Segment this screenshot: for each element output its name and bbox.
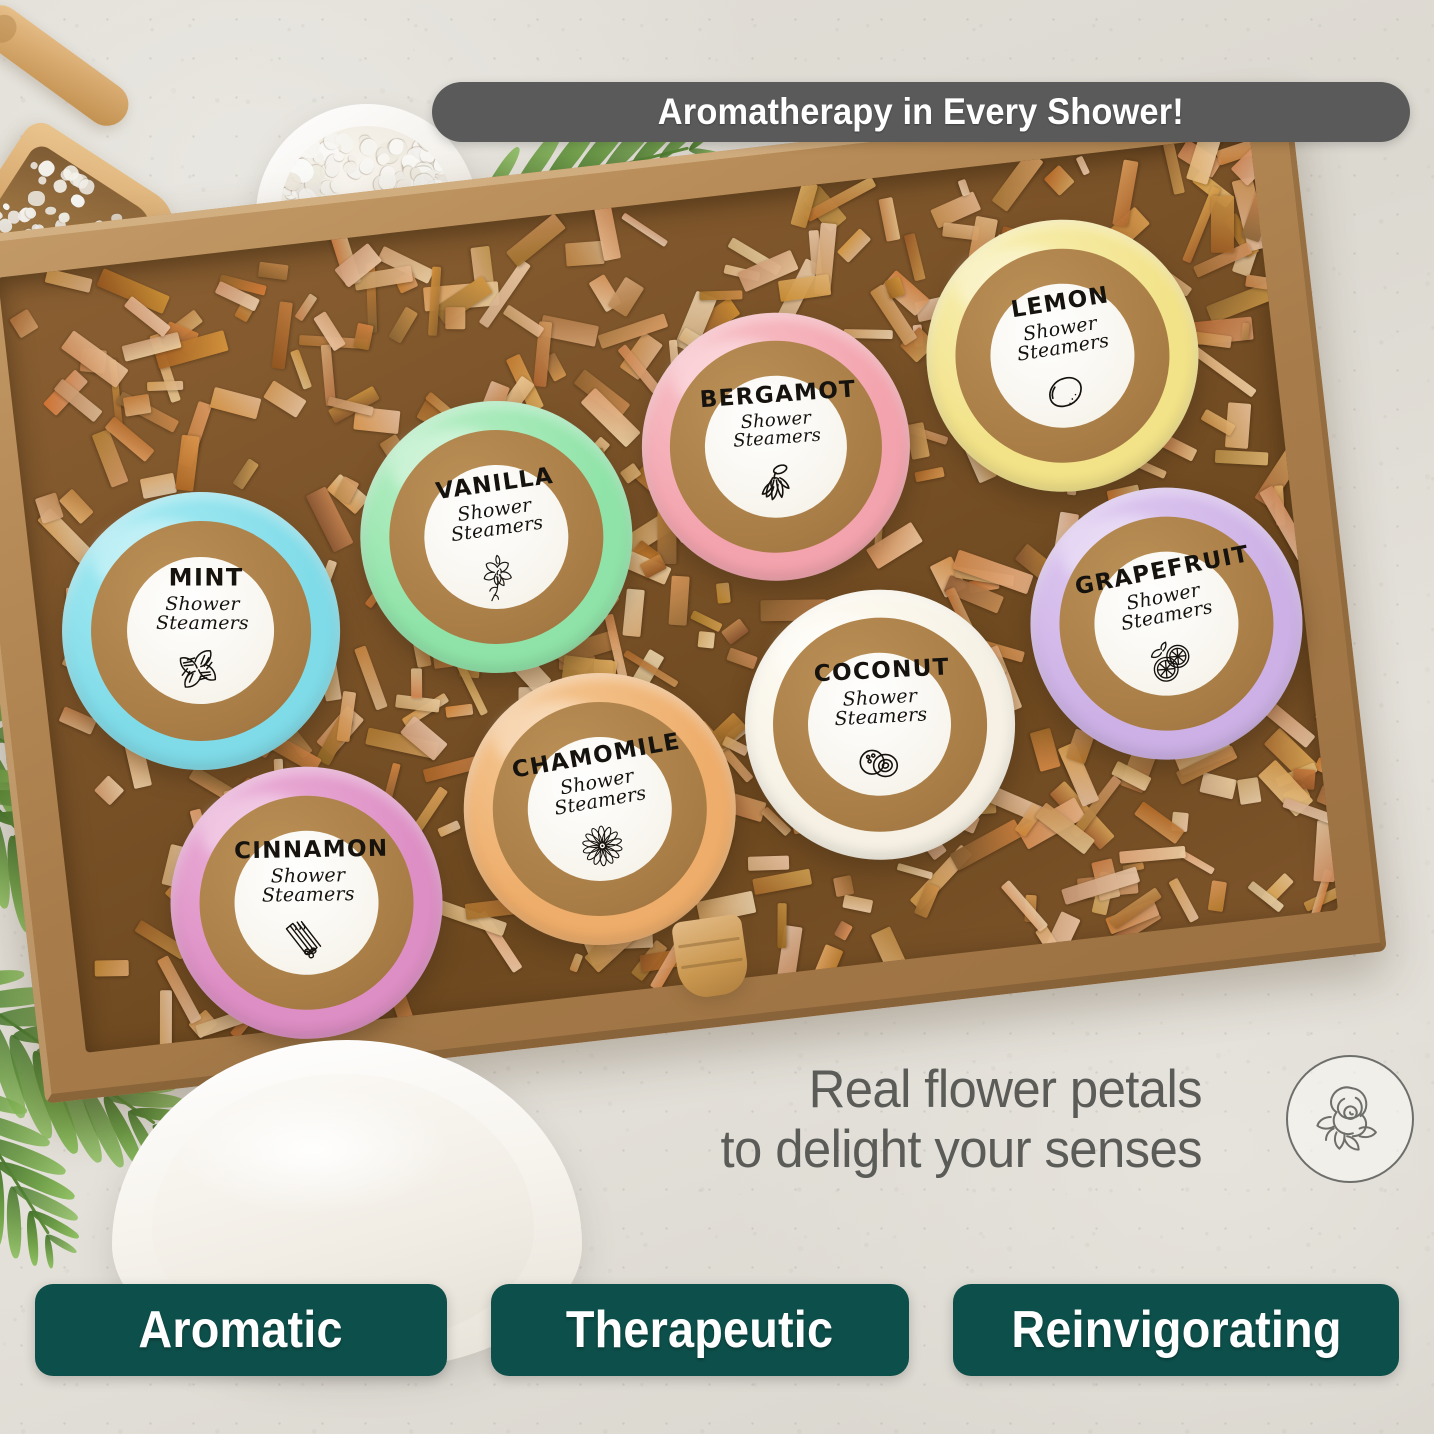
steamer-subtitle: Shower Steamers: [129, 595, 276, 633]
steamer-subtitle: Shower Steamers: [704, 407, 848, 453]
feature-badges: Aromatic Therapeutic Reinvigorating: [0, 1284, 1434, 1376]
paper-shred: [914, 467, 945, 483]
paper-shred: [147, 380, 184, 391]
badge-aromatic[interactable]: Aromatic: [35, 1284, 447, 1376]
steamer-subtitle: Shower Steamers: [987, 309, 1135, 369]
paper-shred: [727, 648, 758, 669]
header-banner-text: Aromatherapy in Every Shower!: [658, 91, 1184, 133]
paper-shred: [1210, 196, 1233, 254]
badge-therapeutic[interactable]: Therapeutic: [491, 1284, 909, 1376]
paper-shred: [753, 869, 813, 896]
paper-shred: [353, 322, 373, 350]
paper-shred: [1199, 772, 1236, 799]
paper-shred: [565, 241, 605, 267]
paper-shred: [904, 233, 926, 281]
paper-shred: [506, 213, 567, 267]
product-scene: MINTShower Steamers VANILLAShower Steame…: [0, 0, 1434, 1434]
paper-shred: [716, 582, 731, 603]
tagline-line-2: to delight your senses: [664, 1120, 1202, 1180]
paper-shred: [699, 290, 743, 300]
tagline-line-1: Real flower petals: [664, 1060, 1202, 1120]
paper-shred: [778, 273, 832, 301]
paper-shred: [389, 307, 419, 344]
lemon-icon: [1036, 365, 1093, 422]
paper-shred: [94, 775, 124, 805]
paper-shred: [777, 903, 786, 948]
steamer-name: COCONUT: [814, 657, 951, 687]
paper-shred: [833, 875, 854, 897]
paper-shred: [1208, 880, 1228, 912]
steamer-subtitle: Shower Steamers: [236, 866, 381, 907]
paper-shred: [1029, 728, 1060, 772]
salt-grain: [45, 206, 57, 215]
daisy-flower-icon: [574, 817, 632, 875]
salt-grain: [8, 211, 20, 224]
rose-icon: [1302, 1069, 1398, 1170]
salt-grain: [57, 211, 70, 223]
paper-shred: [290, 349, 312, 390]
paper-shred: [210, 387, 262, 420]
paper-shred: [721, 618, 749, 645]
paper-shred: [669, 576, 690, 626]
rose-badge: [1286, 1055, 1414, 1183]
paper-shred: [445, 703, 473, 717]
paper-shred: [957, 179, 970, 197]
paper-shred: [411, 669, 422, 699]
steamer-name: CINNAMON: [234, 837, 389, 863]
paper-shred: [697, 631, 715, 648]
mint-leaf-icon: [166, 638, 228, 700]
paper-shred: [747, 855, 789, 870]
paper-shred: [160, 991, 172, 1047]
paper-shred: [1001, 880, 1049, 932]
paper-shred: [1215, 450, 1268, 465]
bergamot-flower-icon: [747, 455, 803, 511]
paper-shred: [1043, 165, 1074, 196]
badge-reinvigorating[interactable]: Reinvigorating: [953, 1284, 1400, 1376]
paper-shred: [176, 435, 200, 491]
paper-shred: [837, 228, 872, 263]
paper-shred: [1119, 846, 1185, 863]
salt-grain: [36, 157, 57, 178]
paper-shred: [271, 302, 293, 370]
paper-shred: [95, 960, 130, 977]
paper-shred: [842, 894, 873, 913]
paper-shred: [623, 588, 645, 637]
paper-shred: [1075, 155, 1090, 176]
paper-shred: [689, 610, 722, 633]
paper-shred: [1240, 322, 1249, 340]
steamer-name: MINT: [169, 565, 244, 589]
cinnamon-sticks-icon: [274, 911, 333, 970]
paper-shred: [1159, 135, 1185, 195]
paper-shred: [263, 381, 307, 419]
paper-shred: [834, 921, 853, 941]
paper-shred: [914, 883, 940, 919]
citrus-slices-icon: [1140, 632, 1199, 691]
paper-shred: [10, 308, 39, 338]
header-banner: Aromatherapy in Every Shower!: [432, 82, 1410, 142]
paper-shred: [445, 307, 465, 329]
paper-shred: [1237, 777, 1261, 805]
paper-shred: [879, 197, 901, 242]
coconut-icon: [850, 734, 907, 791]
badge-reinvigorating-label: Reinvigorating: [1011, 1300, 1341, 1360]
salt-grain: [28, 191, 45, 206]
paper-shred: [354, 645, 387, 710]
paper-shred: [502, 305, 544, 338]
paper-shred: [258, 261, 289, 279]
badge-aromatic-label: Aromatic: [138, 1300, 342, 1360]
paper-shred: [437, 820, 461, 837]
paper-shred: [1168, 878, 1198, 923]
paper-shred: [59, 488, 94, 524]
vanilla-flower-icon: [470, 546, 526, 602]
paper-shred: [608, 277, 645, 318]
tagline: Real flower petals to delight your sense…: [642, 1060, 1202, 1181]
steamer-subtitle: Shower Steamers: [808, 685, 953, 730]
paper-shred: [45, 268, 93, 292]
badge-therapeutic-label: Therapeutic: [566, 1300, 833, 1360]
paper-shred: [896, 863, 933, 879]
paper-shred: [232, 458, 259, 490]
paper-shred: [621, 212, 668, 247]
paper-shred: [569, 953, 583, 973]
